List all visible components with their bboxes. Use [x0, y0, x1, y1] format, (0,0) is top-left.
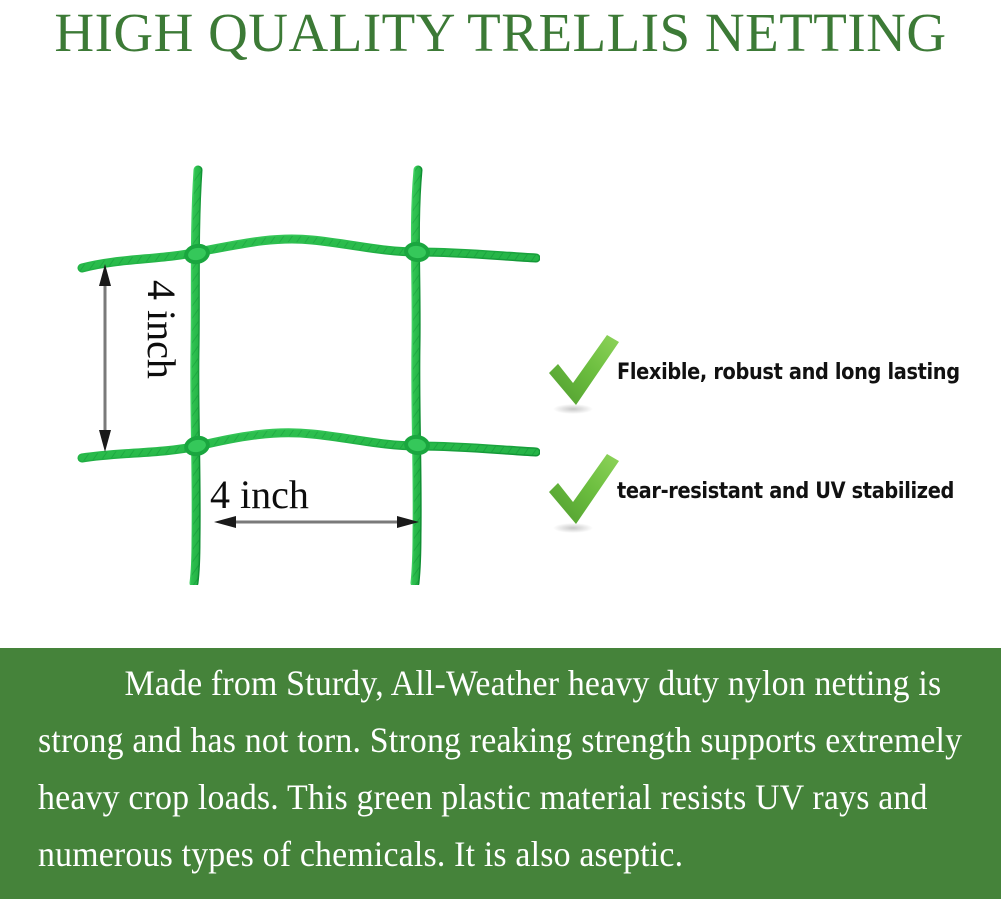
feature-item-1: Flexible, robust and long lasting [545, 333, 965, 419]
feature-item-2: tear-resistant and UV stabilized [545, 452, 965, 538]
description-line-2: strong and has not torn. Strong reaking … [38, 720, 912, 760]
green-check-icon [545, 333, 625, 417]
feature-label-1: Flexible, robust and long lasting [617, 359, 925, 387]
vertical-dimension-arrow [99, 264, 111, 452]
trellis-netting-mesh-diagram: 4 inch 4 inch [60, 140, 540, 585]
horizontal-dimension-arrow [214, 516, 419, 528]
description-line-4: numerous types of chemicals. It is also … [38, 834, 912, 874]
product-infographic: HIGH QUALITY TRELLIS NETTING [0, 0, 1001, 899]
page-title: HIGH QUALITY TRELLIS NETTING [0, 2, 1001, 64]
horizontal-dimension-label: 4 inch [210, 472, 309, 517]
description-line-3: heavy crop loads. This green plastic mat… [38, 777, 912, 817]
feature-label-2: tear-resistant and UV stabilized [617, 478, 925, 506]
description-banner: Made from Sturdy, All-Weather heavy duty… [0, 648, 1001, 899]
description-line-1: Made from Sturdy, All-Weather heavy duty… [38, 663, 912, 703]
green-check-icon [545, 452, 625, 536]
netting-knots [182, 240, 431, 458]
vertical-dimension-label: 4 inch [139, 280, 184, 379]
